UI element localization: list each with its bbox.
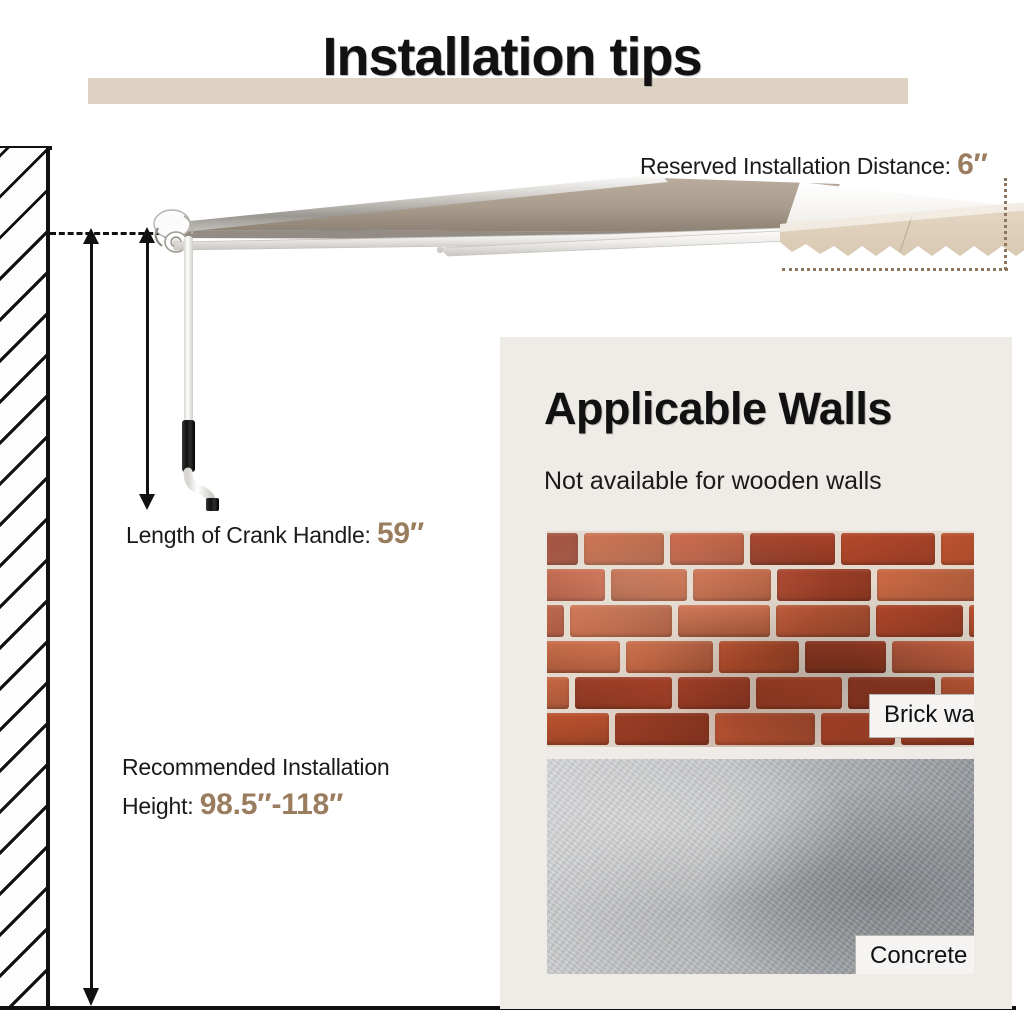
installation-height-text-line1: Recommended Installation xyxy=(122,754,390,780)
installation-height-text-line2: Height: xyxy=(122,793,193,819)
installation-height-value: 98.5″-118″ xyxy=(200,788,344,821)
awning-arm-pivot xyxy=(437,247,443,253)
brick xyxy=(877,569,974,601)
applicable-walls-title: Applicable Walls xyxy=(544,383,892,435)
wall-section xyxy=(0,148,50,1010)
retractable-awning-illustration xyxy=(140,168,1024,298)
crank-handle-text: Length of Crank Handle: xyxy=(126,522,371,548)
brick xyxy=(547,713,609,745)
brick xyxy=(570,605,672,637)
crank-grip-upper xyxy=(182,420,195,472)
brick xyxy=(941,533,974,565)
installation-tips-infographic: Installation tips xyxy=(0,0,1024,1024)
crank-handle-value: 59″ xyxy=(377,517,424,550)
concrete-wall-label: Concrete wall xyxy=(855,935,974,974)
brick xyxy=(678,605,770,637)
brick-row xyxy=(547,603,974,639)
height-arrow-shaft xyxy=(90,240,93,992)
brick xyxy=(547,605,564,637)
brick xyxy=(547,533,578,565)
brick xyxy=(969,605,974,637)
height-arrow-head-bottom xyxy=(83,988,99,1006)
brick xyxy=(776,605,870,637)
reserved-distance-text: Reserved Installation Distance: xyxy=(640,153,951,179)
crank-handle-illustration xyxy=(170,236,230,511)
brick xyxy=(892,641,974,673)
page-title: Installation tips xyxy=(0,26,1024,88)
brick xyxy=(841,533,935,565)
brick xyxy=(547,641,620,673)
reserved-distance-label: Reserved Installation Distance: 6″ xyxy=(640,148,988,182)
brick xyxy=(584,533,664,565)
brick-row xyxy=(547,567,974,603)
brick xyxy=(678,677,750,709)
brick xyxy=(611,569,687,601)
brick xyxy=(547,677,569,709)
brick xyxy=(575,677,672,709)
brick xyxy=(876,605,963,637)
brick xyxy=(805,641,886,673)
wall-hatch-pattern xyxy=(0,148,46,1010)
crank-handle-label: Length of Crank Handle: 59″ xyxy=(126,517,424,551)
brick xyxy=(750,533,835,565)
crank-rod-upper xyxy=(184,236,193,422)
crank-arrow-head-bottom xyxy=(139,494,155,510)
applicable-walls-panel: Applicable Walls Not available for woode… xyxy=(500,337,1012,1009)
reserved-distance-value: 6″ xyxy=(957,148,988,181)
brick xyxy=(719,641,799,673)
crank-grip-lower xyxy=(206,498,219,511)
brick-row xyxy=(547,639,974,675)
brick xyxy=(626,641,713,673)
brick xyxy=(670,533,744,565)
reserved-distance-horizontal-guide xyxy=(782,268,1008,271)
brick-wall-photo: Brick wall xyxy=(547,531,974,747)
concrete-wall-photo: Concrete wall xyxy=(547,759,974,974)
installation-height-label: Recommended Installation Height: 98.5″-1… xyxy=(122,748,522,825)
applicable-walls-subtitle: Not available for wooden walls xyxy=(544,467,882,496)
brick-row xyxy=(547,531,974,567)
brick xyxy=(715,713,815,745)
awning-canopy-top xyxy=(162,178,840,232)
brick xyxy=(756,677,842,709)
brick xyxy=(547,569,605,601)
brick xyxy=(777,569,871,601)
brick xyxy=(693,569,771,601)
brick xyxy=(615,713,709,745)
brick-wall-label: Brick wall xyxy=(869,694,974,738)
reserved-distance-vertical-guide xyxy=(1004,178,1007,270)
